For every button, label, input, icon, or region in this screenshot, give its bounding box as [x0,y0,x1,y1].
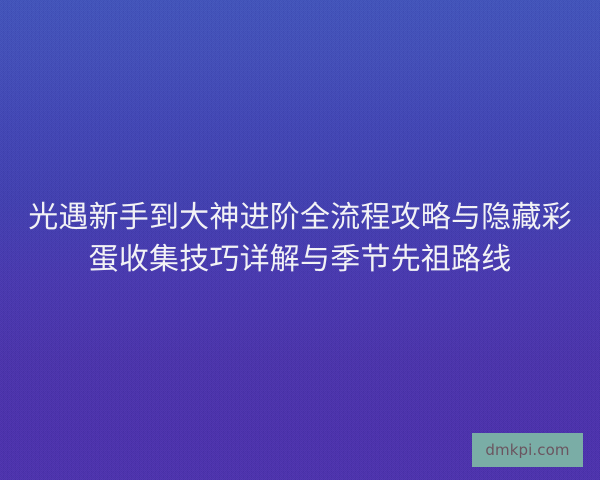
watermark-label: dmkpi.com [485,443,569,458]
watermark-badge: dmkpi.com [472,433,583,467]
poster-canvas: 光遇新手到大神进阶全流程攻略与隐藏彩 蛋收集技巧详解与季节先祖路线 dmkpi.… [0,0,600,480]
headline-title: 光遇新手到大神进阶全流程攻略与隐藏彩 蛋收集技巧详解与季节先祖路线 [0,197,600,281]
